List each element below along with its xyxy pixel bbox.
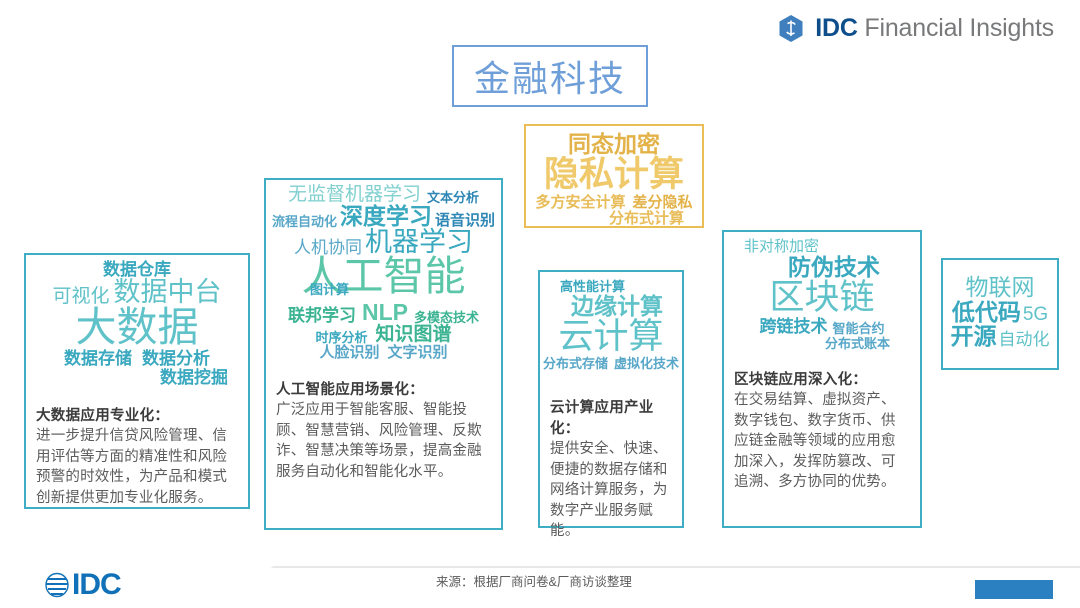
cloud-term: NLP — [362, 301, 408, 324]
cloud-term: 防伪技术 — [730, 256, 914, 279]
cloud-word-cloud: 高性能计算 边缘计算 云计算 分布式存储 虚拟化技术 — [540, 272, 682, 370]
blockchain-word-cloud: 非对称加密 防伪技术 区块链 跨链技术 智能合约 分布式账本 — [724, 232, 920, 350]
card-big-data: 数据仓库 可视化 数据中台 大数据 数据存储 数据分析 数据挖掘 大数据应用专业… — [24, 253, 250, 509]
ai-word-cloud: 无监督机器学习 文本分析 流程自动化 深度学习 语音识别 人机协同 机器学习 人… — [266, 180, 501, 360]
cloud-term: 低代码 — [952, 301, 1021, 324]
corner-accent-block — [975, 580, 1053, 599]
page-title: 金融科技 — [474, 50, 626, 102]
body-heading: 云计算应用产业化： — [550, 396, 672, 438]
cloud-term: 自动化 — [999, 331, 1050, 348]
cloud-term: 智能合约 — [832, 322, 884, 335]
cloud-term: 同态加密 — [532, 133, 696, 156]
privacy-word-cloud: 同态加密 隐私计算 多方安全计算 差分隐私 分布式计算 — [526, 126, 702, 226]
cloud-term: 数据分析 — [142, 350, 210, 367]
cloud-term: 多方安全计算 — [535, 195, 625, 210]
big-data-word-cloud: 数据仓库 可视化 数据中台 大数据 数据存储 数据分析 数据挖掘 — [26, 255, 248, 386]
cloud-term: 5G — [1023, 305, 1048, 324]
brand-title: IDC Financial Insights — [815, 14, 1054, 43]
body-paragraph: 提供安全、快速、便捷的数据存储和网络计算服务，为数字产业服务赋能。 — [550, 439, 672, 542]
cloud-term: 知识图谱 — [376, 325, 452, 344]
body-paragraph: 进一步提升信贷风险管理、信用评估等方面的精准性和风险预警的时效性，为产品和模式创… — [36, 426, 238, 508]
cloud-term: 隐私计算 — [532, 157, 696, 192]
cloud-term: 人脸识别 — [319, 345, 379, 360]
brand-title-light: Financial Insights — [858, 14, 1054, 42]
cloud-term: 高性能计算 — [546, 280, 676, 293]
footer-logo-text: IDC — [72, 568, 121, 602]
brand-title-bold: IDC — [815, 14, 857, 42]
cloud-term: 差分隐私 — [633, 195, 693, 210]
cloud-term: 大数据 — [32, 307, 242, 348]
cloud-term: 数据存储 — [64, 350, 132, 367]
body-heading: 区块链应用深入化： — [734, 368, 910, 389]
idc-hexagon-logo-icon — [778, 14, 804, 43]
cloud-term: 数据仓库 — [32, 261, 242, 278]
card-blockchain: 非对称加密 防伪技术 区块链 跨链技术 智能合约 分布式账本 区块链应用深入化：… — [722, 230, 922, 528]
cloud-term: 文字识别 — [388, 345, 448, 360]
cloud-term: 跨链技术 — [759, 318, 827, 335]
body-heading: 人工智能应用场景化： — [276, 378, 491, 399]
card-privacy-computing: 同态加密 隐私计算 多方安全计算 差分隐私 分布式计算 — [524, 124, 704, 228]
cloud-term: 机器学习 — [365, 229, 473, 256]
card-artificial-intelligence: 无监督机器学习 文本分析 流程自动化 深度学习 语音识别 人机协同 机器学习 人… — [264, 178, 503, 530]
cloud-term: 流程自动化 — [272, 215, 337, 228]
cloud-term: 虚拟化技术 — [614, 357, 679, 370]
card-iot-others: 物联网 低代码 5G 开源 自动化 — [941, 258, 1059, 370]
cloud-term: 边缘计算 — [546, 295, 676, 318]
source-note: 来源：根据厂商问卷&厂商访谈整理 — [436, 571, 632, 590]
cloud-term: 物联网 — [949, 276, 1051, 299]
body-paragraph: 在交易结算、虚拟资产、数字钱包、数字货币、供应链金融等领域的应用愈加深入，发挥防… — [734, 390, 910, 493]
cloud-term: 非对称加密 — [730, 239, 914, 254]
cloud-term: 时序分析 — [315, 331, 367, 344]
cloud-term: 开源 — [951, 325, 997, 348]
body-heading: 大数据应用专业化： — [36, 404, 238, 425]
card-cloud-computing: 高性能计算 边缘计算 云计算 分布式存储 虚拟化技术 云计算应用产业化： 提供安… — [538, 270, 684, 528]
ai-body: 人工智能应用场景化： 广泛应用于智能客服、智能投顾、智慧营销、风险管理、反欺诈、… — [266, 378, 501, 482]
cloud-term: 多模态技术 — [414, 311, 479, 324]
blockchain-body: 区块链应用深入化： 在交易结算、虚拟资产、数字钱包、数字货币、供应链金融等领域的… — [724, 368, 920, 493]
cloud-term: 数据中台 — [114, 279, 222, 306]
cloud-term: 数据挖掘 — [32, 369, 242, 386]
page-title-box: 金融科技 — [452, 45, 648, 107]
cloud-term: 分布式计算 — [532, 211, 696, 226]
iot-word-cloud: 物联网 低代码 5G 开源 自动化 — [943, 260, 1057, 348]
cloud-term: 文本分析 — [427, 191, 479, 204]
idc-globe-logo-icon — [44, 571, 70, 599]
cloud-term: 区块链 — [730, 280, 914, 315]
cloud-body: 云计算应用产业化： 提供安全、快速、便捷的数据存储和网络计算服务，为数字产业服务… — [540, 396, 682, 542]
cloud-term: 分布式存储 — [543, 357, 608, 370]
cloud-term: 无监督机器学习 — [288, 185, 421, 204]
footer-idc-logo: IDC — [44, 568, 121, 602]
cloud-term: 云计算 — [546, 319, 676, 354]
cloud-term: 联邦学习 — [288, 307, 356, 324]
body-paragraph: 广泛应用于智能客服、智能投顾、智慧营销、风险管理、反欺诈、智慧决策等场景，提高金… — [276, 400, 491, 482]
cloud-term: 深度学习 — [340, 205, 432, 228]
big-data-body: 大数据应用专业化： 进一步提升信贷风险管理、信用评估等方面的精准性和风险预警的时… — [26, 404, 248, 508]
brand-header: IDC Financial Insights — [778, 14, 1054, 43]
cloud-term: 分布式账本 — [730, 337, 914, 350]
footer-logo-tab — [0, 558, 268, 608]
cloud-term: 图计算 — [310, 282, 349, 297]
cloud-term: 语音识别 — [435, 213, 495, 228]
